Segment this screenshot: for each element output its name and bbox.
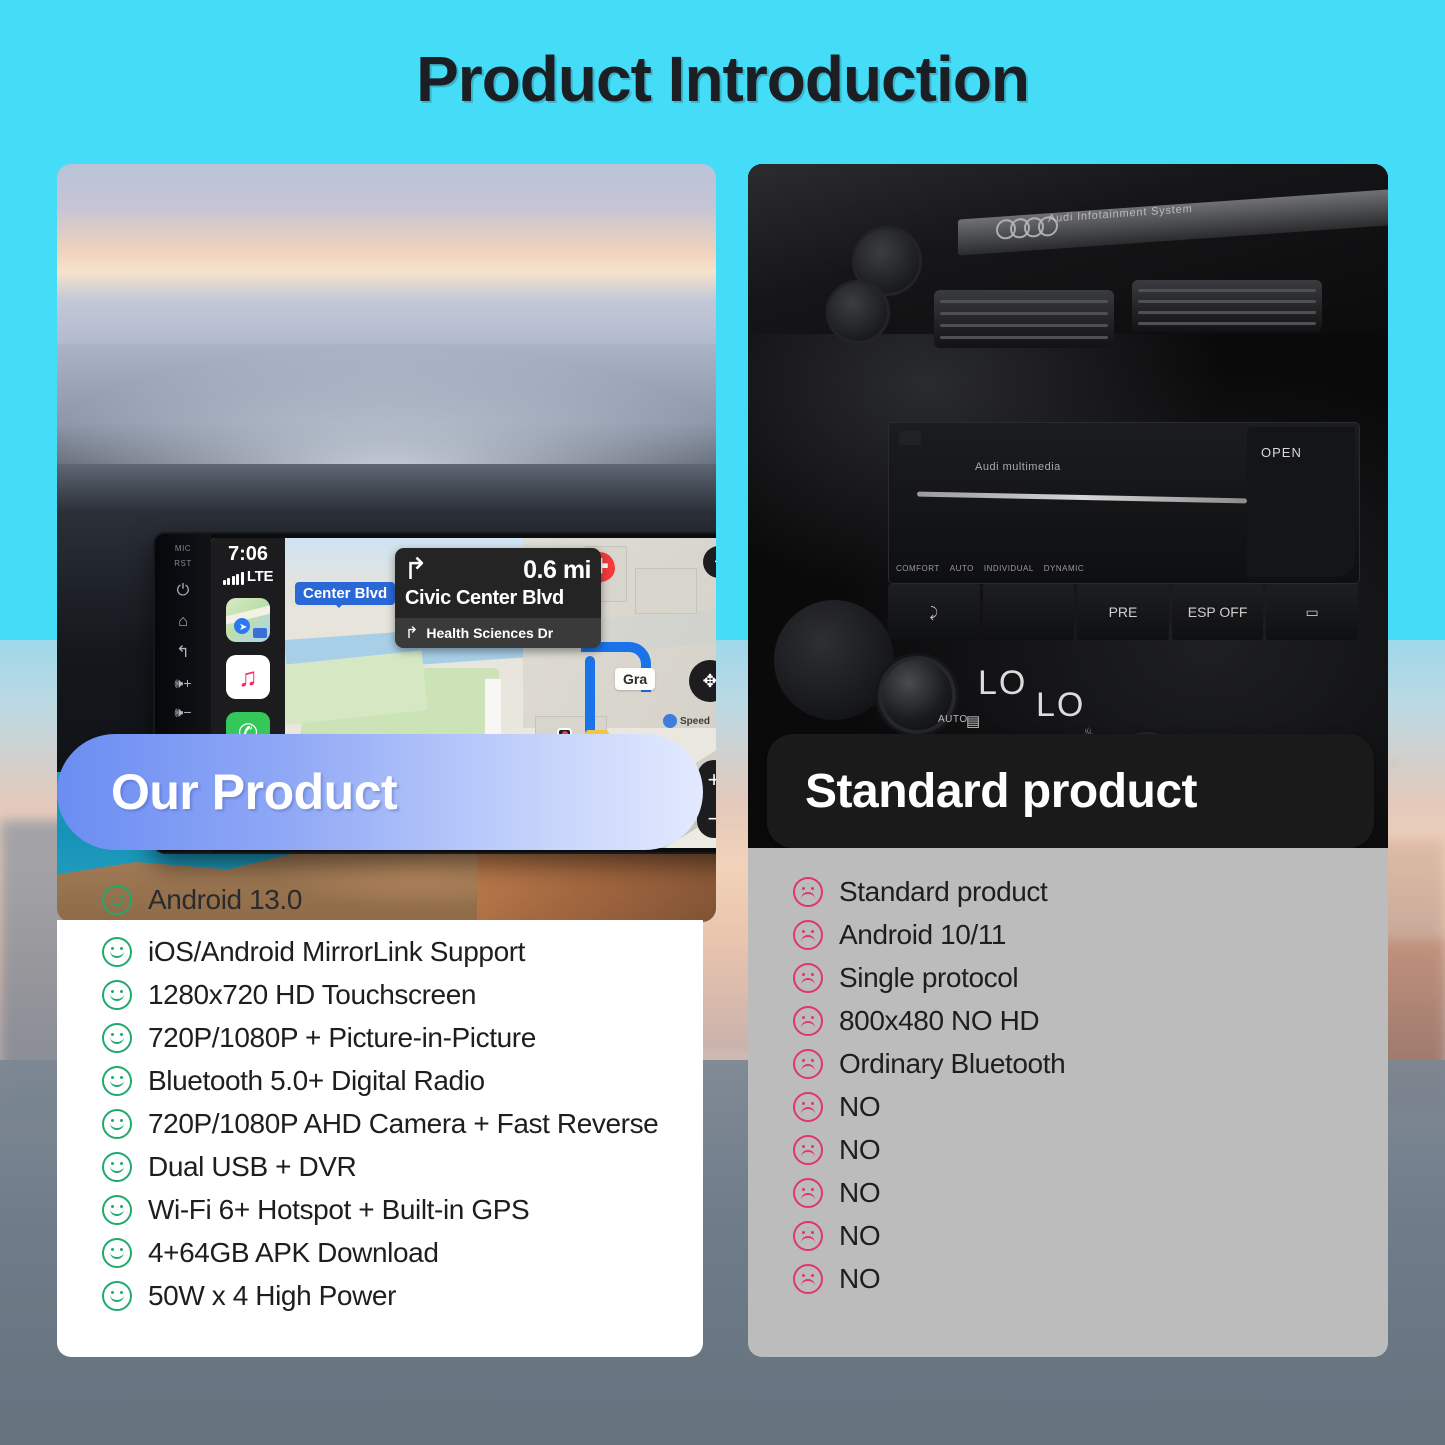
list-item: 720P/1080P + Picture-in-Picture xyxy=(57,1016,703,1059)
air-vent-round xyxy=(826,280,890,344)
open-button-label: OPEN xyxy=(1261,445,1302,460)
sad-face-icon xyxy=(793,963,823,993)
our-product-banner: Our Product xyxy=(57,734,703,850)
open-button[interactable]: OPEN xyxy=(1247,427,1355,577)
feature-label: 1280x720 HD Touchscreen xyxy=(148,979,476,1011)
list-item: 800x480 NO HD xyxy=(748,999,1388,1042)
feature-label: Bluetooth 5.0+ Digital Radio xyxy=(148,1065,485,1097)
maps-app-icon[interactable]: ➤ xyxy=(226,598,270,642)
list-item: iOS/Android MirrorLink Support xyxy=(57,930,703,973)
sad-face-icon xyxy=(793,1264,823,1294)
list-item: Android 13.0 xyxy=(57,878,703,921)
list-item: NO xyxy=(748,1085,1388,1128)
smiley-face-icon xyxy=(102,1023,132,1053)
music-app-icon[interactable]: ♫ xyxy=(226,655,270,699)
sad-face-icon xyxy=(793,1092,823,1122)
list-item: Android 10/11 xyxy=(748,913,1388,956)
smiley-face-icon xyxy=(102,980,132,1010)
air-vent-center xyxy=(934,290,1114,348)
list-item: 720P/1080P AHD Camera + Fast Reverse xyxy=(57,1102,703,1145)
volume-up-icon[interactable]: 🕪+ xyxy=(175,676,192,690)
music-note-glyph: ♫ xyxy=(238,664,258,690)
smiley-face-icon xyxy=(102,1281,132,1311)
mode-individual: INDIVIDUAL xyxy=(984,564,1034,573)
map-poi-speed: Speed xyxy=(663,714,710,728)
back-icon[interactable]: ↰ xyxy=(176,645,189,661)
audi-head-unit: Audi multimedia OPEN xyxy=(888,422,1360,584)
climate-temp-left: LO xyxy=(978,664,1027,703)
list-item: NO xyxy=(748,1257,1388,1300)
sad-face-icon xyxy=(793,1221,823,1251)
feature-label: iOS/Android MirrorLink Support xyxy=(148,936,525,968)
dash-button-row: ⤸ PRE ESP OFF ▭ xyxy=(888,584,1358,640)
smiley-face-icon xyxy=(102,1066,132,1096)
nav-distance: 0.6 mi xyxy=(523,556,591,585)
navigation-card: ↱ 0.6 mi Civic Center Blvd ↱ Health Scie… xyxy=(395,548,601,648)
defrost-rear-icon[interactable]: ▤ xyxy=(966,712,980,730)
maps-badge xyxy=(253,628,267,638)
list-item: Standard product xyxy=(748,870,1388,913)
page-title: Product Introduction xyxy=(0,42,1445,116)
eject-button[interactable] xyxy=(899,431,921,445)
smiley-face-icon xyxy=(102,937,132,967)
speed-poi-label: Speed xyxy=(680,716,710,727)
standard-product-banner: Standard product xyxy=(767,734,1374,848)
drive-select-button[interactable]: ⤸ xyxy=(888,584,980,640)
sad-face-icon xyxy=(793,1178,823,1208)
next-turn-arrow-icon: ↱ xyxy=(405,623,418,643)
turn-right-arrow-icon: ↱ xyxy=(403,555,428,585)
nav-next-step: ↱ Health Sciences Dr xyxy=(395,618,601,648)
zoom-in-button[interactable]: + xyxy=(708,769,716,791)
smiley-face-icon xyxy=(102,1152,132,1182)
feature-label: NO xyxy=(839,1220,880,1252)
standard-product-banner-label: Standard product xyxy=(805,764,1197,819)
list-item: NO xyxy=(748,1214,1388,1257)
speed-poi-icon xyxy=(663,714,677,728)
map-poi-grand-label: Gra xyxy=(615,668,655,690)
feature-label: Dual USB + DVR xyxy=(148,1151,356,1183)
status-time: 7:06 xyxy=(228,544,268,564)
map-building xyxy=(635,568,697,614)
climate-temp-right: LO xyxy=(1036,686,1085,725)
zoom-out-button[interactable]: − xyxy=(708,808,716,830)
audi-rings-logo xyxy=(996,216,1052,240)
smiley-face-icon xyxy=(102,885,132,915)
maps-arrow-glyph: ➤ xyxy=(239,622,247,633)
nav-street-name: Civic Center Blvd xyxy=(395,587,601,618)
power-icon[interactable]: ⏻ xyxy=(177,583,190,599)
network-label: LTE xyxy=(247,568,273,585)
list-item: 1280x720 HD Touchscreen xyxy=(57,973,703,1016)
drive-mode-labels: COMFORT AUTO INDIVIDUAL DYNAMIC xyxy=(896,564,1084,573)
signal-bars-icon xyxy=(223,572,244,585)
sad-face-icon xyxy=(793,1049,823,1079)
list-item: Dual USB + DVR xyxy=(57,1145,703,1188)
feature-label: 50W x 4 High Power xyxy=(148,1280,396,1312)
home-icon[interactable]: ⌂ xyxy=(178,614,188,630)
list-item: NO xyxy=(748,1171,1388,1214)
feature-label: 720P/1080P + Picture-in-Picture xyxy=(148,1022,536,1054)
infographic-canvas: Product Introduction MIC RST ⏻ ⌂ ↰ 🕪+ 🕪−… xyxy=(0,0,1445,1445)
list-item: 4+64GB APK Download xyxy=(57,1231,703,1274)
pre-button[interactable]: PRE xyxy=(1077,584,1169,640)
sky-backdrop xyxy=(57,164,716,364)
feature-label: Android 10/11 xyxy=(839,919,1006,951)
rst-label: RST xyxy=(174,559,192,568)
feature-label: Standard product xyxy=(839,876,1047,908)
our-product-feature-panel: Android 13.0 iOS/Android MirrorLink Supp… xyxy=(57,920,703,1357)
list-item: Ordinary Bluetooth xyxy=(748,1042,1388,1085)
list-item: Bluetooth 5.0+ Digital Radio xyxy=(57,1059,703,1102)
feature-label: NO xyxy=(839,1263,880,1295)
volume-down-icon[interactable]: 🕪− xyxy=(175,705,192,719)
mode-auto: AUTO xyxy=(950,564,974,573)
sad-face-icon xyxy=(793,877,823,907)
feature-label: NO xyxy=(839,1177,880,1209)
sad-face-icon xyxy=(793,920,823,950)
list-item: Single protocol xyxy=(748,956,1388,999)
air-vent-right xyxy=(1132,280,1322,332)
nav-next-street: Health Sciences Dr xyxy=(426,625,553,641)
feature-label: Single protocol xyxy=(839,962,1018,994)
status-network: LTE xyxy=(223,568,273,585)
feature-label: 4+64GB APK Download xyxy=(148,1237,439,1269)
feature-label: NO xyxy=(839,1134,880,1166)
blank-button[interactable] xyxy=(983,584,1075,640)
feature-label: 800x480 NO HD xyxy=(839,1005,1039,1037)
smiley-face-icon xyxy=(102,1109,132,1139)
cup-holder xyxy=(774,600,894,720)
list-item: 50W x 4 High Power xyxy=(57,1274,703,1317)
feature-list: iOS/Android MirrorLink Support 1280x720 … xyxy=(57,920,703,1317)
list-item: Wi-Fi 6+ Hotspot + Built-in GPS xyxy=(57,1188,703,1231)
feature-label: NO xyxy=(839,1091,880,1123)
mode-comfort: COMFORT xyxy=(896,564,940,573)
seat-button[interactable]: ▭ xyxy=(1266,584,1358,640)
standard-product-feature-panel: Standard product Android 10/11 Single pr… xyxy=(748,848,1388,1357)
head-unit-brand-label: Audi multimedia xyxy=(975,461,1061,473)
esp-off-button[interactable]: ESP OFF xyxy=(1172,584,1264,640)
feature-list: Standard product Android 10/11 Single pr… xyxy=(748,848,1388,1300)
feature-label: Ordinary Bluetooth xyxy=(839,1048,1065,1080)
smiley-face-icon xyxy=(102,1195,132,1225)
list-item: NO xyxy=(748,1128,1388,1171)
map-road-label: Center Blvd xyxy=(295,582,395,605)
our-product-banner-label: Our Product xyxy=(111,763,397,821)
auto-label-left: AUTO xyxy=(938,714,968,725)
cd-slot xyxy=(917,492,1247,504)
mic-label: MIC xyxy=(175,544,191,553)
sad-face-icon xyxy=(793,1135,823,1165)
feature-label: Android 13.0 xyxy=(148,884,302,916)
sad-face-icon xyxy=(793,1006,823,1036)
mode-dynamic: DYNAMIC xyxy=(1044,564,1084,573)
feature-label: 720P/1080P AHD Camera + Fast Reverse xyxy=(148,1108,658,1140)
smiley-face-icon xyxy=(102,1238,132,1268)
feature-label: Wi-Fi 6+ Hotspot + Built-in GPS xyxy=(148,1194,529,1226)
